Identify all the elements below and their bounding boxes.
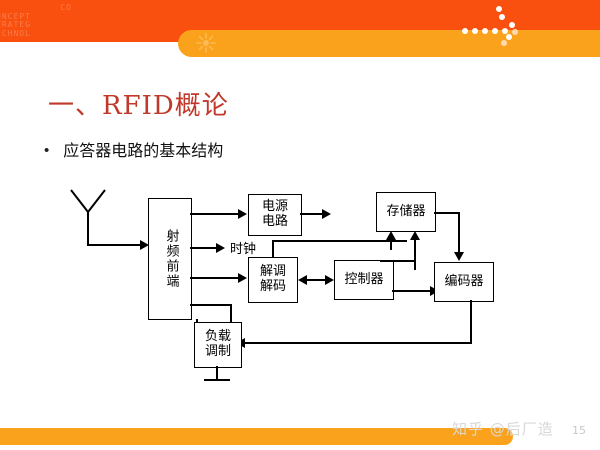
line-demod-up <box>272 240 274 258</box>
block-encoder[interactable]: 编码器 <box>434 262 494 302</box>
line-encoder-to-loadmod <box>240 342 472 344</box>
block-power-circuit[interactable]: 电源 电路 <box>248 194 302 236</box>
page-title: 一、RFID概论 <box>48 85 229 122</box>
block-load-modulation-line2: 调制 <box>205 345 231 360</box>
block-memory[interactable]: 存储器 <box>376 192 436 232</box>
block-power-circuit-line2: 电路 <box>262 215 288 230</box>
antenna-stem <box>87 212 89 245</box>
line-rf-to-power <box>190 213 240 215</box>
block-rf-front-end[interactable]: 射频前端 <box>148 198 192 320</box>
line-rf-to-clock <box>190 247 218 249</box>
arrow-up-memory-a <box>386 231 396 240</box>
sun-burst-icon <box>196 33 216 53</box>
line-up-memory-b2 <box>414 236 416 260</box>
line-memory-down <box>458 212 460 254</box>
arrow-memory-to-encoder <box>454 252 464 261</box>
arrow-rf-to-demod <box>238 273 247 283</box>
line-encoder-down <box>470 300 472 344</box>
bullet-label: 应答器电路的基本结构 <box>63 140 223 162</box>
arrow-demod-to-controller <box>325 275 334 285</box>
block-load-modulation[interactable]: 负载 调制 <box>194 322 242 368</box>
block-memory-label: 存储器 <box>386 205 425 220</box>
bullet-item: • 应答器电路的基本结构 <box>44 140 223 162</box>
line-controller-to-encoder <box>392 290 432 292</box>
line-memory-right <box>434 212 460 214</box>
header-orange-band <box>178 30 600 57</box>
logo-line-3: ECHNOL <box>0 30 82 39</box>
block-demod-decode-line2: 解码 <box>260 280 286 295</box>
block-diagram: 射频前端 时钟 电源 电路 解调 解码 <box>0 180 600 400</box>
line-memory-feed-left <box>405 240 407 242</box>
label-clock: 时钟 <box>230 238 256 257</box>
line-controller-to-memoryb <box>380 260 415 262</box>
block-rf-front-end-label: 射频前端 <box>163 229 178 289</box>
line-demod-to-memory <box>272 240 406 242</box>
block-encoder-label: 编码器 <box>444 275 483 290</box>
block-power-circuit-line1: 电源 <box>262 200 288 215</box>
line-power-out <box>300 213 324 215</box>
arrow-rf-to-clock <box>216 243 225 253</box>
block-demod-decode-line1: 解调 <box>260 265 286 280</box>
arrow-controller-to-demod <box>298 275 307 285</box>
block-demod-decode[interactable]: 解调 解码 <box>248 257 298 303</box>
slide-canvas: CO ONCEPT TRATEG ECHNOL 一、RFID概论 • 应答器电路… <box>0 0 600 450</box>
block-load-modulation-line1: 负载 <box>205 330 231 345</box>
ground-icon <box>204 379 230 381</box>
line-ground-stem <box>216 366 218 380</box>
dot-arrow-right-icon <box>462 8 524 44</box>
block-controller-label: 控制器 <box>344 273 383 288</box>
bullet-marker: • <box>44 140 49 162</box>
line-rf-bottom <box>190 304 232 306</box>
watermark: 知乎 @后厂造 <box>452 418 554 439</box>
arrow-power-out <box>322 209 331 219</box>
page-number: 15 <box>572 424 586 437</box>
block-controller[interactable]: 控制器 <box>334 260 394 300</box>
antenna-feed-line <box>87 244 142 246</box>
line-up-memory-a <box>390 240 392 250</box>
line-rf-to-demod <box>190 277 240 279</box>
footer-bar <box>0 428 513 445</box>
brand-logo: CO ONCEPT TRATEG ECHNOL <box>0 4 82 48</box>
arrow-rf-to-power <box>238 209 247 219</box>
